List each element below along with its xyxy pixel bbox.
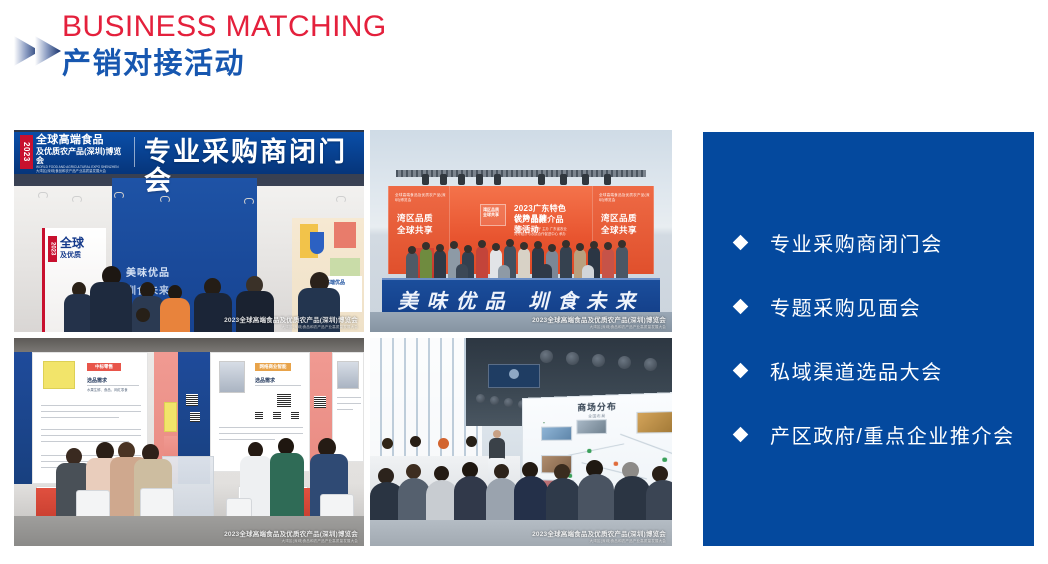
diamond-bullet-icon [733,234,749,250]
slide-root: BUSINESS MATCHING 产销对接活动 美味优品 圳食未来 2023 … [0,0,1048,564]
activity-label: 专业采购商闭门会 [770,228,943,257]
activity-label: 私域渠道选品大会 [770,356,943,385]
screen-subtitle: 全国布局 [588,413,606,419]
booth-board-heading: 选品需求 [87,377,107,384]
page-title-en: BUSINESS MATCHING [62,10,387,44]
expo-logo-line4: 大湾区(深圳)食品和农产品产业高质量发展大会 [36,169,128,174]
booth-side-text-1: 全球 [60,234,84,251]
diamond-bullet-icon [733,426,749,442]
photo-matchmaking-booths: 中标零售 选品需求 水果生鲜、食品、网红零食 网络商业智能 选品需求 [14,338,364,546]
backdrop-badge: 湾区品质 全球共享 [480,204,506,226]
backdrop-panel-left-line1: 湾区品质 [397,213,433,223]
booth-wall-text-1: 美味优品 [126,264,170,279]
double-chevron-right-icon [14,36,68,66]
expo-logo-year: 2023 [20,135,33,169]
booth-side-year: 2023 [48,236,57,262]
activities-panel: 专业采购商闭门会 专题采购见面会 私域渠道选品大会 产区政府/重点企业推介会 [703,132,1034,546]
slide-header: BUSINESS MATCHING 产销对接活动 [0,0,1048,112]
photo-buyer-closed-door-meeting: 美味优品 圳食未来 2023 全球 及优质 高端优品 2023 [14,130,364,332]
stage-slogan: 美味优品 圳食未来 [382,285,660,314]
list-item[interactable]: 专题采购见面会 [735,274,1022,338]
photo-presentation-session: 商场分布 全国布局 ● [370,338,672,546]
expo-logo-line1: 全球高端食品 [36,135,128,146]
booth-banner-title: 专业采购商闭门会 [144,138,364,196]
activity-label: 专题采购见面会 [770,292,921,321]
activity-label: 产区政府/重点企业推介会 [770,420,1015,449]
chevron-right-icon [35,36,61,66]
expo-logo-line2: 及优质农产品(深圳)博览会 [36,147,128,165]
booth-side-text-2: 及优质 [60,250,81,260]
header-text-block: BUSINESS MATCHING 产销对接活动 [62,10,387,81]
booth-tag-1: 中标零售 [87,363,121,371]
page-title-cn: 产销对接活动 [62,47,387,81]
booth-board-sub: 水果生鲜、食品、网红零食 [87,387,128,392]
expo-logo-small: 全球高端食品及优质农产品(深圳)博览会 [599,193,653,203]
booth-tag-2: 网络商业智能 [255,363,291,371]
photo-group-ceremony: 全球高端食品及优质农产品(深圳)博览会 湾区品质 全球共享 全球高端食品及优质农… [370,130,672,332]
screen-title: 商场分布 [577,401,617,414]
list-item[interactable]: 产区政府/重点企业推介会 [735,402,1022,466]
list-item[interactable]: 私域渠道选品大会 [735,338,1022,402]
diamond-bullet-icon [733,298,749,314]
list-item[interactable]: 专业采购商闭门会 [735,210,1022,274]
booth-board-heading-2: 选品需求 [255,377,275,384]
backdrop-panel-right-line1: 湾区品质 [601,213,637,223]
activities-list: 专业采购商闭门会 专题采购见面会 私域渠道选品大会 产区政府/重点企业推介会 [735,210,1022,466]
diamond-bullet-icon [733,362,749,378]
expo-logo-small: 全球高端食品及优质农产品(深圳)博览会 [395,193,449,203]
